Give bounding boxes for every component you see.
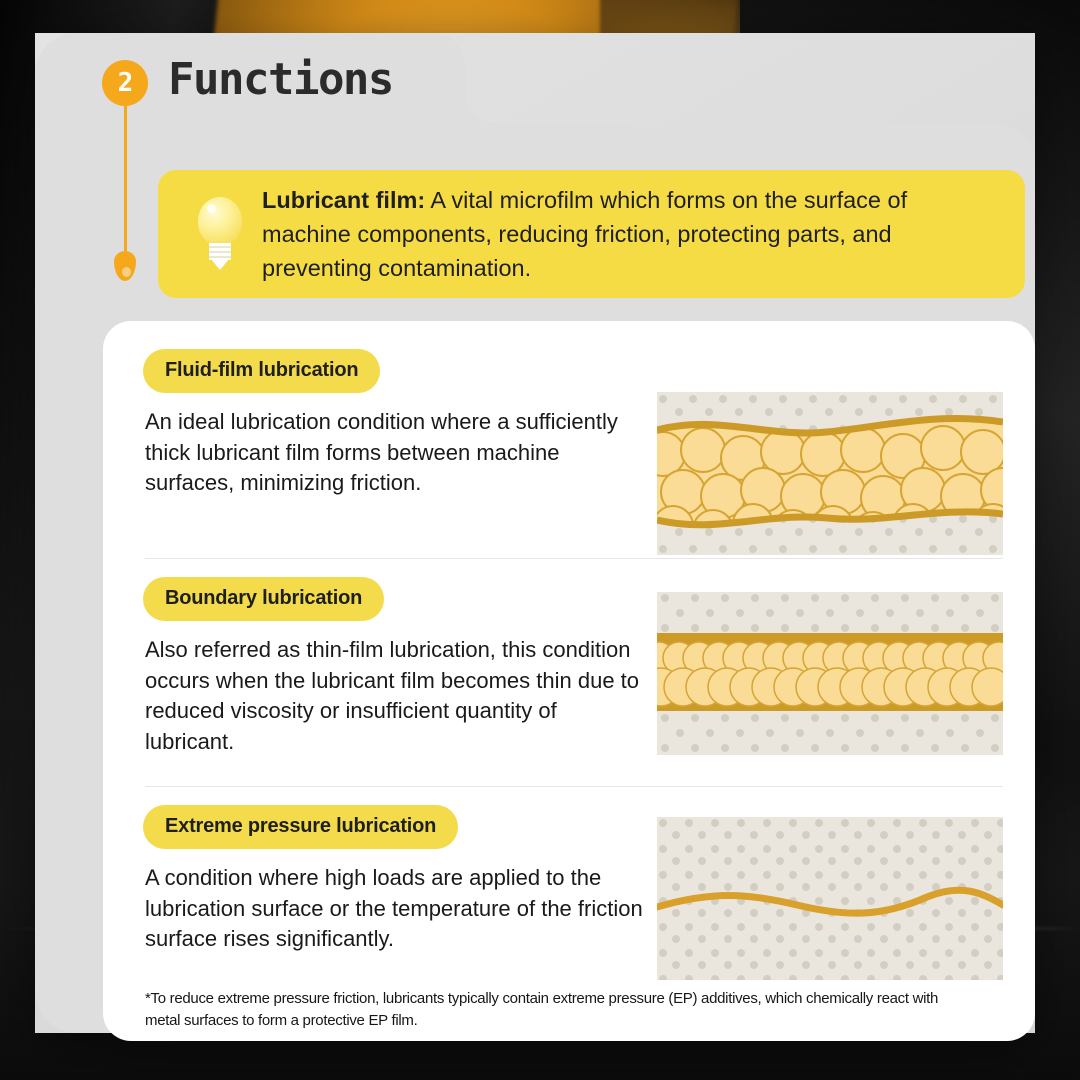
lightbulb-tip bbox=[211, 259, 229, 270]
fluid-film-diagram bbox=[657, 392, 1003, 555]
page-title: Functions bbox=[168, 54, 393, 105]
lubricant-film-callout: Lubricant film: A vital microfilm which … bbox=[158, 170, 1025, 298]
boundary-film-diagram bbox=[657, 592, 1003, 755]
step-number-badge: 2 bbox=[102, 60, 148, 106]
section-boundary: Boundary lubrication Also referred as th… bbox=[103, 577, 1035, 757]
step-number-label: 2 bbox=[118, 68, 133, 98]
callout-text: Lubricant film: A vital microfilm which … bbox=[262, 183, 1025, 285]
connector-line bbox=[124, 105, 127, 263]
section-extreme-pressure: Extreme pressure lubrication A condition… bbox=[103, 805, 1035, 955]
section-body-text: Also referred as thin-film lubrication, … bbox=[145, 635, 645, 757]
section-fluid-film: Fluid-film lubrication An ideal lubricat… bbox=[103, 349, 1035, 499]
extreme-pressure-diagram bbox=[657, 817, 1003, 980]
fluid-film-svg bbox=[657, 392, 1003, 555]
lightbulb-base bbox=[209, 243, 231, 260]
section-title-pill: Fluid-film lubrication bbox=[143, 349, 380, 393]
section-divider bbox=[145, 558, 1003, 559]
footnote-text: *To reduce extreme pressure friction, lu… bbox=[145, 988, 945, 1032]
molecule-rows bbox=[657, 642, 1003, 706]
content-card: 2 Functions Lubricant film: A vital micr… bbox=[35, 33, 1035, 1033]
section-title-pill: Boundary lubrication bbox=[143, 577, 384, 621]
section-body-text: A condition where high loads are applied… bbox=[145, 863, 645, 955]
sections-panel: Fluid-film lubrication An ideal lubricat… bbox=[103, 321, 1035, 1041]
section-divider bbox=[145, 786, 1003, 787]
section-body-text: An ideal lubrication condition where a s… bbox=[145, 407, 645, 499]
extreme-pressure-svg bbox=[657, 817, 1003, 980]
section-title-pill: Extreme pressure lubrication bbox=[143, 805, 458, 849]
lightbulb-icon bbox=[194, 197, 246, 271]
lightbulb-glass bbox=[198, 197, 242, 245]
card-header: 2 Functions bbox=[35, 33, 1035, 143]
boundary-film-svg bbox=[657, 592, 1003, 755]
callout-lead: Lubricant film: bbox=[262, 187, 425, 213]
